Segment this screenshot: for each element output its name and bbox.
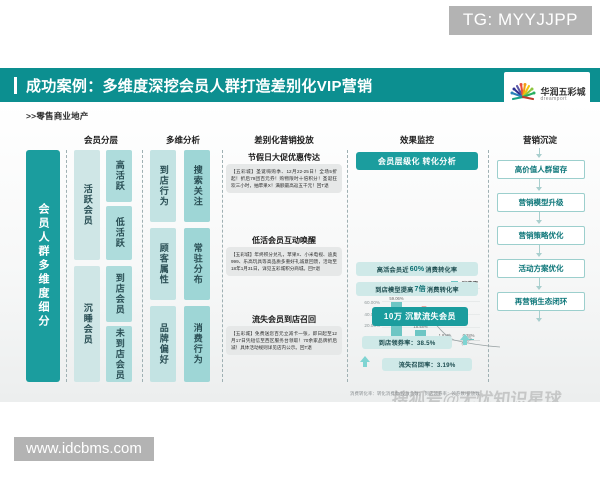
tier-cell-dormant: 沉睡会员 (74, 266, 100, 382)
tier-cell-label: 低活跃 (114, 217, 123, 249)
dimension-cell-residence: 常驻分布 (184, 228, 210, 300)
tier-cell-high-active: 高活跃 (106, 150, 132, 202)
y-tick: 60.00% (354, 300, 380, 305)
stat-coupon-rate: 到店领券率：38.5% (362, 336, 452, 349)
divider-2 (142, 150, 143, 382)
dimension-cell-label: 搜索关注 (192, 165, 201, 207)
column-header-dimension: 多维分析 (146, 134, 220, 146)
flow-step-1: 高价值人群留存 (497, 160, 585, 179)
dimension-cell-label: 常驻分布 (192, 243, 201, 285)
site-watermark: www.idcbms.com (14, 437, 154, 461)
dimension-cell-search-focus: 搜索关注 (184, 150, 210, 222)
tier-cell-active: 活跃会员 (74, 150, 100, 260)
campaign-title-1: 节假日大促优惠传达 (226, 152, 342, 163)
dimension-cell-label: 品牌偏好 (158, 323, 167, 365)
column-header-monitor: 效果监控 (352, 134, 482, 146)
dimension-cell-label: 消费行为 (192, 323, 201, 365)
dimension-cell-consume: 消费行为 (184, 306, 210, 382)
big-stat-label: 沉默流失会员 (405, 311, 456, 322)
flow-step-5: 再营销生态闭环 (497, 292, 585, 311)
column-header-deposit: 营销沉淀 (497, 134, 583, 146)
flow-step-4: 活动方案优化 (497, 259, 585, 278)
column-header-tier: 会员分层 (62, 134, 140, 146)
campaign-message-2: 【五彩城】年终积分兑礼，苹果X、小米电视、迪奥999、乐高玩具等高品质多重好礼诚… (226, 247, 342, 276)
tier-cell-label: 高活跃 (114, 160, 123, 192)
flow-connector (539, 311, 540, 321)
divider-3 (222, 150, 223, 382)
stat-recall-rate: 流失召回率：3.19% (382, 358, 472, 371)
campaign-message-3: 【五彩城】免费送您百元立减卡一张，即日起至12月17日凭短信至西区服务台领取！7… (226, 326, 342, 355)
tg-watermark-banner: TG: MYYJJPP (449, 6, 592, 35)
tier-cell-label: 沉睡会员 (82, 303, 91, 345)
conversion-analysis-chip: 会员层级化 转化分析 (356, 152, 478, 170)
tier-cell-label: 到店会员 (114, 273, 123, 315)
campaign-title-3: 流失会员到店召回 (226, 314, 342, 325)
stat-value: 60% (410, 266, 425, 273)
campaign-message-1: 【五彩城】圣诞嗨购季、12月22-25日！全场5折起！折后79团百元券！购物限时… (226, 164, 342, 193)
divider-1 (66, 150, 67, 382)
diagram-area: >>零售商业地产 会员分层 多维分析 差别化营销投放 效果监控 营销沉淀 会员人… (0, 102, 600, 402)
tier-cell-visited: 到店会员 (106, 266, 132, 322)
stat-value: 7倍 (415, 284, 426, 294)
dimension-cell-label: 顾客属性 (158, 243, 167, 285)
flow-connector (539, 278, 540, 289)
stat-high-active-conversion: 高活会员近60%消费转化率 (356, 262, 478, 276)
tier-cell-low-active: 低活跃 (106, 206, 132, 260)
page-title: 成功案例：多维度深挖会员人群打造差别化VIP营销 (26, 75, 372, 96)
segment-master-label: 会员人群多维度细分 (37, 203, 49, 329)
tier-cell-not-visited: 未到店会员 (106, 326, 132, 382)
column-header-campaign: 差别化营销投放 (226, 134, 342, 146)
silent-lost-members-pill: 10万 沉默流失会员 (372, 307, 468, 326)
stat-suffix: 消费转化率 (427, 285, 459, 294)
flow-step-3: 营销策略优化 (497, 226, 585, 245)
stat-suffix: 消费转化率 (425, 265, 457, 274)
title-accent-bar (14, 77, 17, 94)
dimension-cell-customer-attr: 顾客属性 (150, 228, 176, 300)
tier-cell-label: 未到店会员 (114, 328, 123, 381)
breadcrumb: >>零售商业地产 (26, 110, 89, 122)
segment-master-block: 会员人群多维度细分 (26, 150, 60, 382)
tier-cell-label: 活跃会员 (82, 184, 91, 226)
divider-4 (347, 150, 348, 382)
bar-value-label: 59.06% (389, 296, 403, 301)
flow-connector (539, 148, 540, 157)
stat-model-uplift: 到店模型提高7倍消费转化率 (356, 282, 478, 296)
big-stat-value: 10万 (384, 311, 402, 322)
stat-prefix: 高活会员近 (377, 265, 409, 274)
flow-connector (539, 212, 540, 223)
flow-connector (539, 245, 540, 256)
campaign-title-2: 低活会员互动唤醒 (226, 235, 342, 246)
flow-connector (539, 179, 540, 190)
dimension-cell-visit-behavior: 到店行为 (150, 150, 176, 222)
stat-prefix: 到店模型提高 (375, 285, 413, 294)
dimension-cell-label: 到店行为 (158, 165, 167, 207)
dimension-cell-brand-pref: 品牌偏好 (150, 306, 176, 382)
slide-canvas: TG: MYYJJPP 成功案例：多维度深挖会员人群打造差别化VIP营销 (0, 0, 600, 480)
flow-step-2: 营销模型升级 (497, 193, 585, 212)
